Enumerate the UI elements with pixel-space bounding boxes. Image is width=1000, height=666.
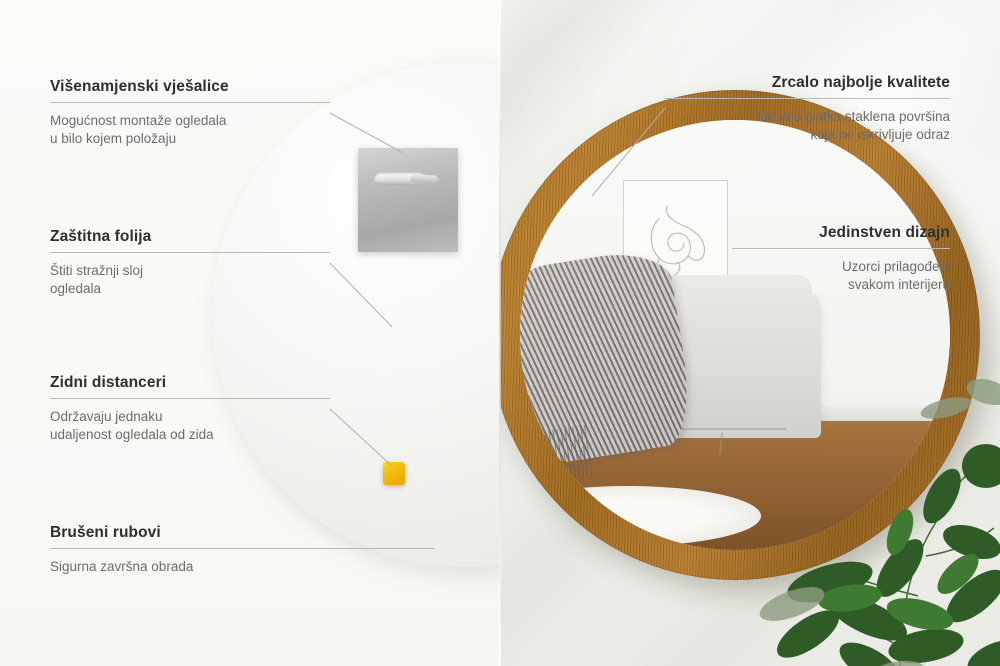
callout-title: Zidni distanceri [50, 374, 330, 392]
desc-line-1: Uzorci prilagođeni [842, 259, 950, 274]
callout-zidni-distanceri: Zidni distanceri Održavaju jednaku udalj… [50, 374, 330, 444]
callout-description: Sigurna završna obrada [50, 558, 435, 576]
callout-description: Štiti stražnji sloj ogledala [50, 262, 330, 298]
callout-description: Idealno glatka staklena površina koja ne… [665, 108, 950, 144]
callout-description: Uzorci prilagođeni svakom interijeru [732, 258, 950, 294]
callout-zastitna-folija: Zaštitna folija Štiti stražnji sloj ogle… [50, 228, 330, 298]
callout-description: Održavaju jednaku udaljenost ogledala od… [50, 408, 330, 444]
callout-rule [732, 248, 950, 249]
desc-line-2: udaljenost ogledala od zida [50, 427, 214, 442]
callout-zrcalo-najbolje-kvalitete: Zrcalo najbolje kvalitete Idealno glatka… [665, 74, 950, 144]
callout-rule [50, 102, 330, 103]
reflected-blanket-fringe [520, 425, 592, 486]
callout-jedinstven-dizajn: Jedinstven dizajn Uzorci prilagođeni sva… [732, 224, 950, 294]
callout-visenamjenski-vjesalice: Višenamjenski vješalice Mogućnost montaž… [50, 78, 330, 148]
desc-line-2: svakom interijeru [848, 277, 950, 292]
callout-rule [665, 98, 950, 99]
callout-title: Jedinstven dizajn [732, 224, 950, 242]
callout-rule [50, 252, 330, 253]
callout-bruseni-rubovi: Brušeni rubovi Sigurna završna obrada [50, 524, 435, 576]
desc-line-1: Mogućnost montaže ogledala [50, 113, 226, 128]
desc-line-2: ogledala [50, 281, 101, 296]
desc-line-1: Održavaju jednaku [50, 409, 163, 424]
desc-line-2: u bilo kojem položaju [50, 131, 176, 146]
callout-title: Višenamjenski vješalice [50, 78, 330, 96]
hanger-slot-highlight [410, 175, 438, 184]
desc-line-1: Idealno glatka staklena površina [757, 109, 950, 124]
callout-title: Zaštitna folija [50, 228, 330, 246]
desc-line-2: koja ne iskrivljuje odraz [810, 127, 950, 142]
callout-title: Brušeni rubovi [50, 524, 435, 542]
panel-divider-seam [499, 0, 501, 666]
callout-description: Mogućnost montaže ogledala u bilo kojem … [50, 112, 330, 148]
callout-title: Zrcalo najbolje kvalitete [665, 74, 950, 92]
callout-rule [50, 548, 435, 549]
product-feature-infographic: Višenamjenski vješalice Mogućnost montaž… [0, 0, 1000, 666]
hanger-plate [358, 148, 458, 252]
desc-line-1: Štiti stražnji sloj [50, 263, 143, 278]
foliage-plant [750, 346, 1000, 666]
callout-rule [50, 398, 330, 399]
wall-spacer-yellow [383, 462, 405, 485]
